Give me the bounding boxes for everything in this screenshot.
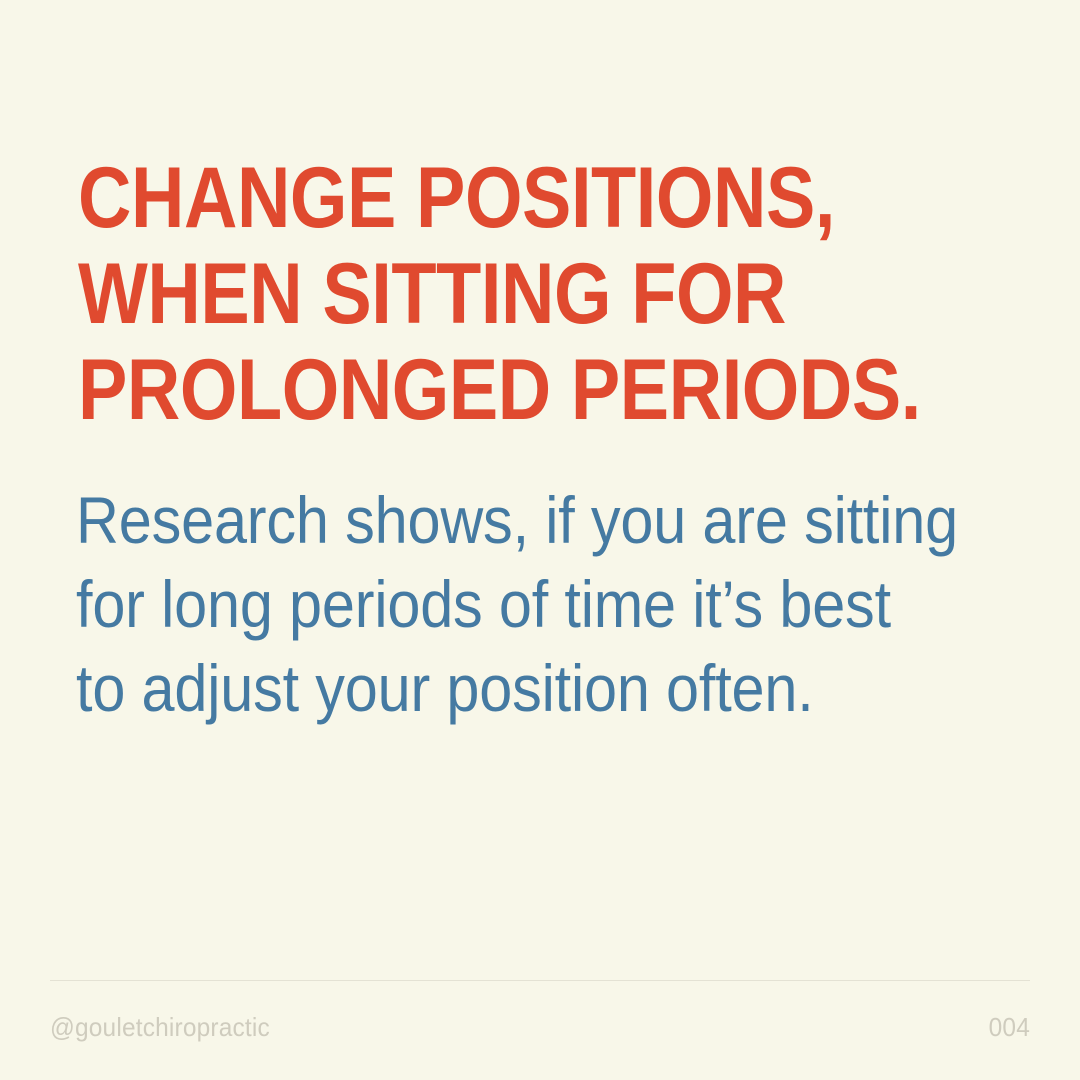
page-number: 004 [989, 1012, 1030, 1043]
body-line-1: Research shows, if you are sitting [76, 478, 922, 562]
slide-card: CHANGE POSITIONS, WHEN SITTING FOR PROLO… [0, 0, 1080, 1080]
headline-line-2: WHEN SITTING FOR [78, 246, 878, 342]
headline-line-3: PROLONGED PERIODS. [78, 342, 878, 438]
body-line-2: for long periods of time it’s best [76, 562, 922, 646]
body-text: Research shows, if you are sitting for l… [76, 478, 922, 730]
body-line-3: to adjust your position often. [76, 646, 922, 730]
headline-line-1: CHANGE POSITIONS, [78, 150, 878, 246]
footer-divider [50, 980, 1030, 981]
page-title: CHANGE POSITIONS, WHEN SITTING FOR PROLO… [78, 150, 878, 438]
account-handle: @gouletchiropractic [50, 1012, 270, 1043]
footer: @gouletchiropractic 004 [50, 1012, 1030, 1043]
